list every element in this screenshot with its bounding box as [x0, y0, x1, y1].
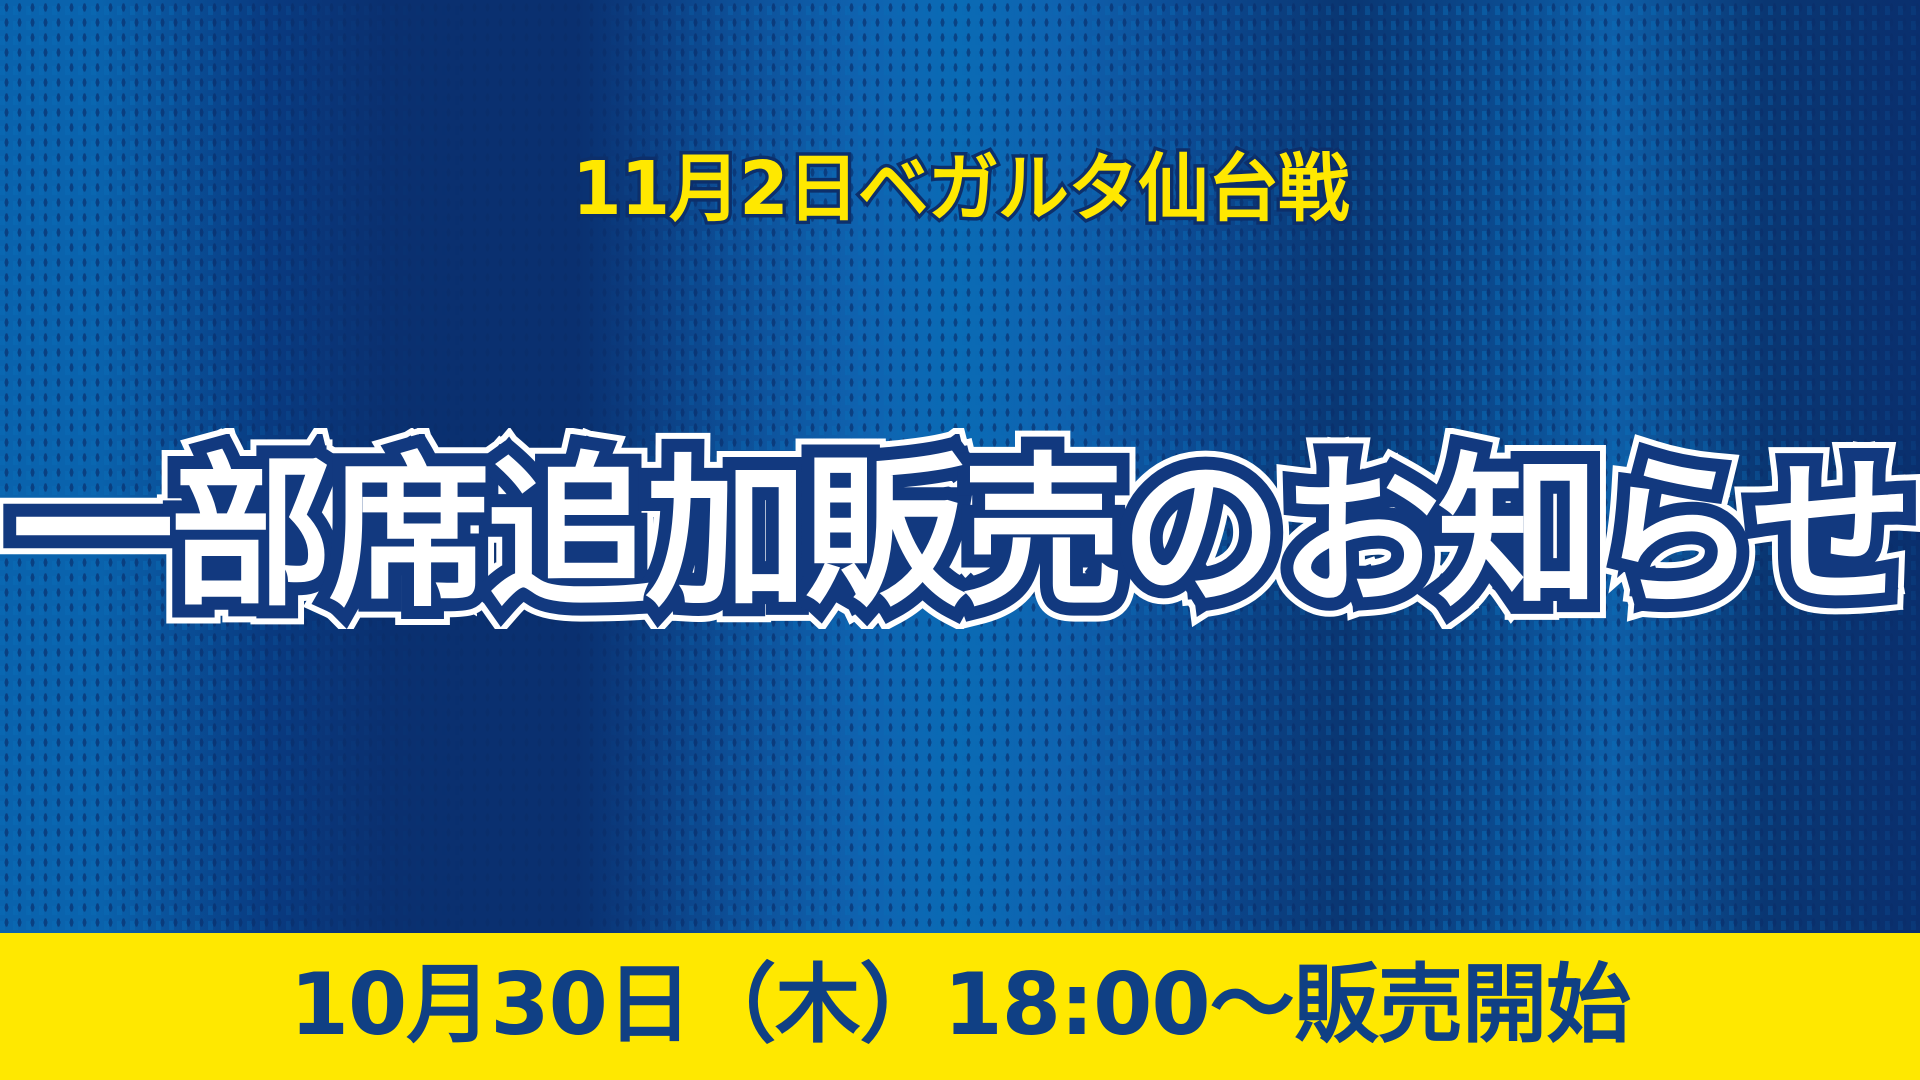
sale-start-text: 10月30日（木）18:00〜販売開始	[290, 962, 1631, 1048]
match-label-row: 11月2日ベガルタ仙台戦	[0, 152, 1920, 226]
sale-start-band: 10月30日（木）18:00〜販売開始	[0, 933, 1920, 1080]
match-label: 11月2日ベガルタ仙台戦	[572, 152, 1348, 226]
headline-row: 一部席追加販売のお知らせ	[0, 452, 1920, 616]
promo-banner: 11月2日ベガルタ仙台戦 一部席追加販売のお知らせ 一部席追加販売のお知らせ 1…	[0, 0, 1920, 1080]
headline-text: 一部席追加販売のお知らせ	[11, 452, 1909, 616]
